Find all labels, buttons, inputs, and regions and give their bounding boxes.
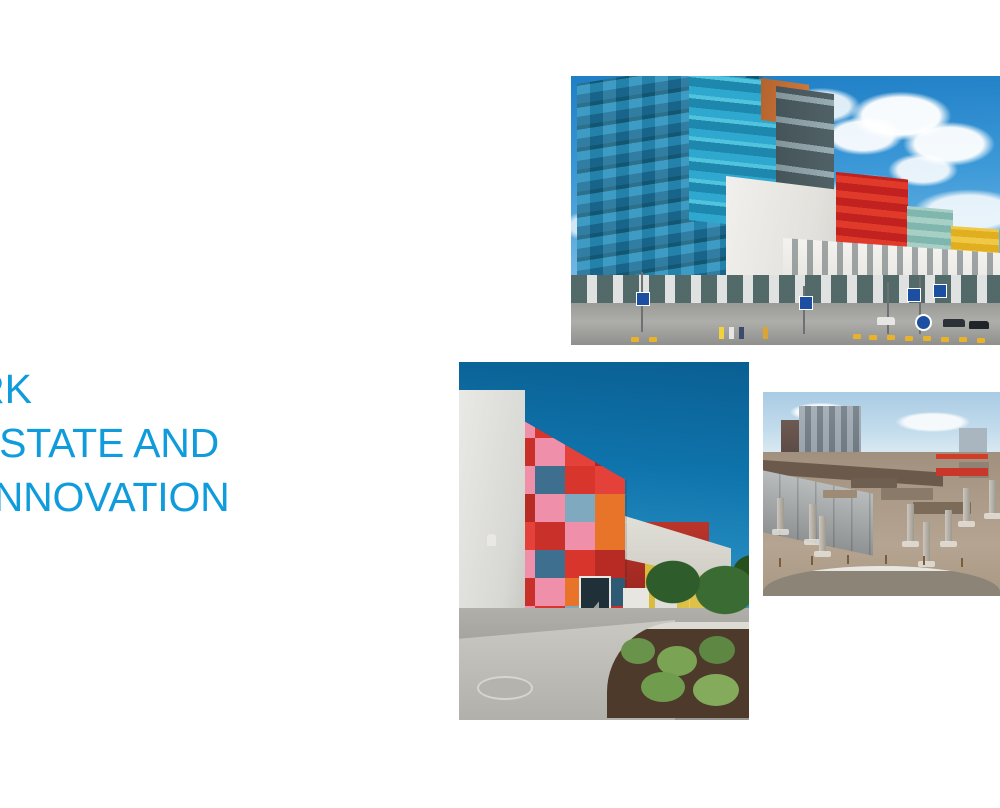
pedestrian bbox=[719, 327, 724, 339]
facade-tile bbox=[535, 494, 565, 522]
concrete-pillar bbox=[777, 498, 784, 530]
lamp-post bbox=[803, 286, 805, 334]
facade-tile bbox=[595, 522, 625, 550]
concrete-pillar bbox=[819, 516, 826, 552]
facade-tile bbox=[595, 550, 625, 578]
facade-tile bbox=[535, 438, 565, 466]
road-barrier bbox=[941, 337, 949, 342]
car bbox=[943, 319, 965, 327]
photo-daycare-building: PÄIVÄKOTI bbox=[459, 362, 749, 720]
rebar-stub bbox=[779, 558, 781, 567]
road-barrier bbox=[649, 337, 657, 342]
apartment-building-under-construction bbox=[799, 406, 861, 458]
photo-apartment-buildings bbox=[571, 76, 1000, 345]
facade-tile bbox=[565, 494, 595, 522]
wall-lamp-icon bbox=[487, 534, 496, 546]
road-barrier bbox=[905, 336, 913, 341]
car bbox=[969, 321, 989, 329]
road-barrier bbox=[869, 335, 877, 340]
red-lifting-machine bbox=[936, 454, 988, 490]
construction-photo-content bbox=[763, 392, 1000, 596]
slide-title: Y NETWORK ND REAL ESTATE AND RUCTION INN… bbox=[0, 362, 426, 524]
van bbox=[877, 317, 895, 325]
facade-tile bbox=[565, 550, 595, 578]
apartment-photo-content bbox=[571, 76, 1000, 345]
road-barrier bbox=[923, 336, 931, 341]
shrub bbox=[621, 638, 655, 664]
shrub bbox=[641, 672, 685, 702]
presentation-slide: Y NETWORK ND REAL ESTATE AND RUCTION INN… bbox=[0, 0, 1000, 808]
daycare-photo-content: PÄIVÄKOTI bbox=[459, 362, 749, 720]
concrete-pillar bbox=[809, 504, 816, 540]
facade-tile bbox=[565, 522, 595, 550]
facade-tile bbox=[535, 522, 565, 550]
facade-tile bbox=[535, 550, 565, 578]
facade-tile bbox=[535, 466, 565, 494]
rebar-stub bbox=[847, 555, 849, 564]
parking-sign-icon bbox=[636, 292, 650, 306]
pedestrian-crossing-sign-icon bbox=[799, 296, 813, 310]
road-barrier bbox=[631, 337, 639, 342]
title-line-2: ND REAL ESTATE AND bbox=[0, 416, 426, 470]
pedestrian-crossing-sign-icon bbox=[907, 288, 921, 302]
concrete-pillar bbox=[945, 510, 952, 542]
rebar-stub bbox=[961, 558, 963, 567]
material-stack bbox=[881, 488, 933, 500]
road-barrier bbox=[977, 338, 985, 343]
timber-pile bbox=[823, 490, 857, 498]
shrub bbox=[699, 636, 735, 664]
rebar-stub bbox=[811, 556, 813, 565]
title-line-3: RUCTION INNOVATION bbox=[0, 470, 426, 524]
concrete-pillar bbox=[989, 480, 996, 514]
manhole-cover bbox=[477, 676, 533, 700]
concrete-pillar bbox=[963, 488, 970, 522]
shrub bbox=[693, 674, 739, 706]
facade-tile bbox=[565, 466, 595, 494]
road-barrier bbox=[887, 335, 895, 340]
rebar-stub bbox=[923, 556, 925, 565]
rebar-stub bbox=[885, 555, 887, 564]
pedestrian bbox=[739, 327, 744, 339]
material-stack bbox=[851, 478, 897, 488]
photo-construction-site bbox=[763, 392, 1000, 596]
pedestrian bbox=[763, 327, 768, 339]
concrete-pillar bbox=[907, 504, 914, 542]
one-way-sign-icon bbox=[915, 314, 932, 331]
facade-tile bbox=[535, 578, 565, 606]
pedestrian bbox=[729, 327, 734, 339]
road-barrier bbox=[959, 337, 967, 342]
title-line-1: Y NETWORK bbox=[0, 362, 426, 416]
road-barrier bbox=[853, 334, 861, 339]
pedestrian-crossing-sign-icon bbox=[933, 284, 947, 298]
facade-tile bbox=[595, 494, 625, 522]
lamp-post bbox=[887, 282, 889, 334]
